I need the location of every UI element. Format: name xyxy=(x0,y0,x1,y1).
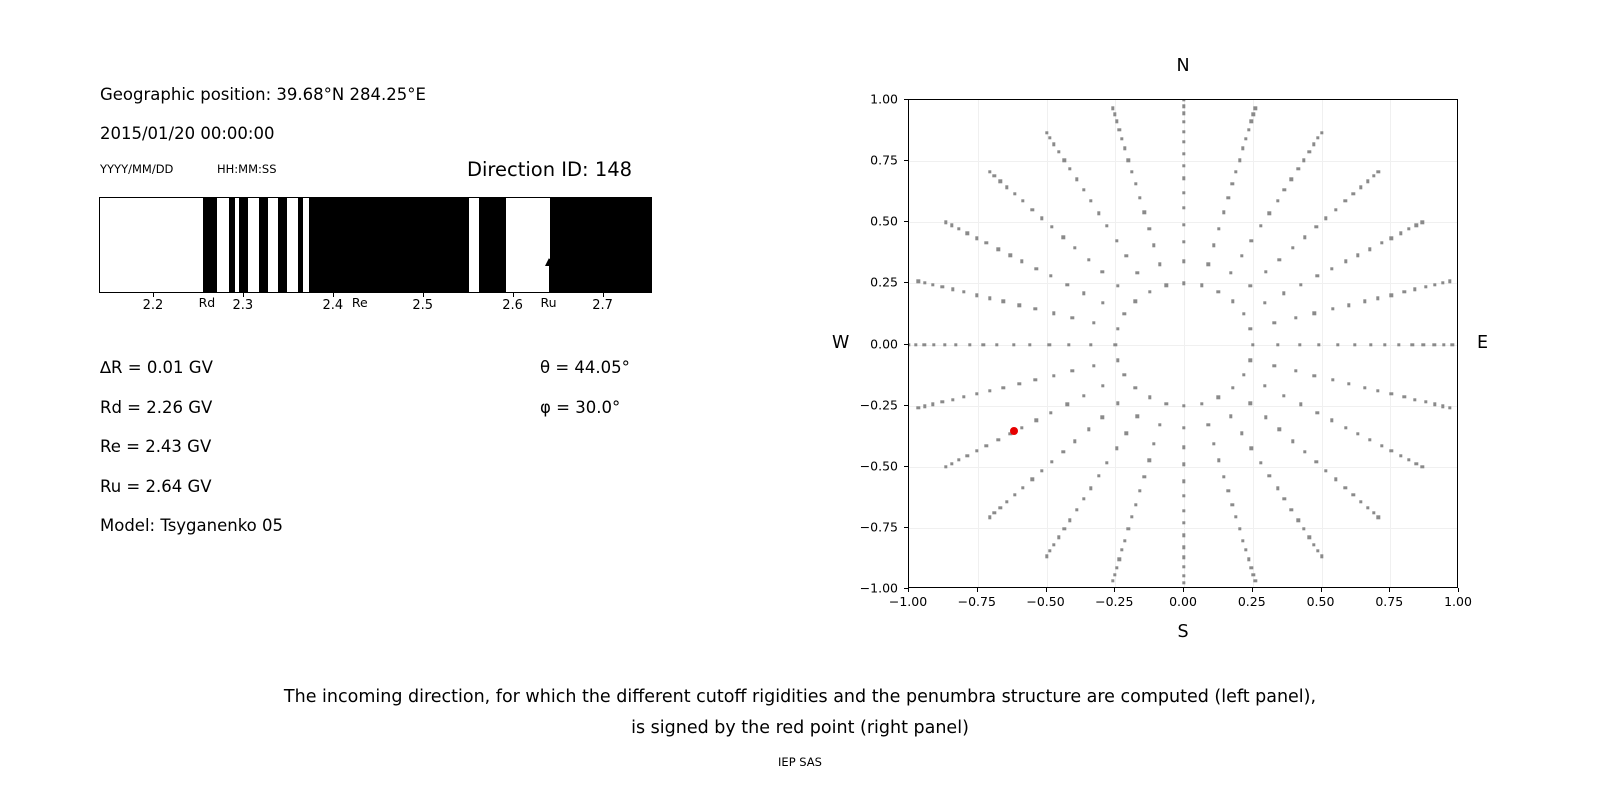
direction-point xyxy=(914,343,917,346)
penumbra-forbidden-band xyxy=(203,198,216,292)
x-tick-label: −0.75 xyxy=(958,594,996,609)
direction-point xyxy=(1252,113,1255,116)
direction-point xyxy=(1240,432,1243,435)
direction-point xyxy=(1049,274,1052,277)
direction-point xyxy=(1071,316,1074,319)
marker-arrow-head-icon xyxy=(204,258,212,266)
direction-point xyxy=(1021,486,1024,489)
parameter-text: Re = 2.43 GV xyxy=(100,437,211,456)
direction-point xyxy=(1123,147,1126,150)
direction-point xyxy=(1347,304,1350,307)
direction-point xyxy=(1376,389,1379,392)
direction-point xyxy=(1212,442,1215,445)
direction-point xyxy=(1200,284,1203,287)
marker-label: Ru xyxy=(541,295,557,310)
penumbra-chart xyxy=(99,197,652,293)
direction-point xyxy=(1389,293,1392,296)
parameter-text: Ru = 2.64 GV xyxy=(100,477,212,496)
direction-point xyxy=(1035,267,1038,270)
penumbra-forbidden-band xyxy=(259,198,268,292)
direction-point xyxy=(1356,432,1359,435)
direction-point xyxy=(1148,290,1151,293)
direction-point xyxy=(1290,178,1293,181)
direction-point xyxy=(1251,343,1254,346)
direction-point xyxy=(1312,312,1315,315)
direction-point xyxy=(1113,113,1116,116)
direction-point xyxy=(1414,224,1417,227)
direction-point xyxy=(1048,343,1051,346)
direction-point xyxy=(1302,527,1305,530)
direction-point xyxy=(931,403,934,406)
x-tick-label: 2.5 xyxy=(412,298,433,313)
x-tick-label: −1.00 xyxy=(889,594,927,609)
y-tick-label: 1.00 xyxy=(842,92,898,107)
direction-scatter-plot xyxy=(908,99,1458,588)
direction-point xyxy=(1283,497,1286,500)
direction-point xyxy=(1040,217,1043,220)
direction-point xyxy=(1050,225,1053,228)
direction-point xyxy=(1120,137,1123,140)
direction-point xyxy=(1247,558,1250,561)
direction-point xyxy=(1182,164,1185,167)
direction-point xyxy=(1231,386,1234,389)
direction-point xyxy=(1073,246,1076,249)
direction-point xyxy=(1259,461,1262,464)
direction-point xyxy=(1312,143,1315,146)
horizontal-gridline xyxy=(909,345,1457,346)
direction-point xyxy=(1238,527,1241,530)
x-tick-label: 0.25 xyxy=(1238,594,1266,609)
direction-point xyxy=(1315,225,1318,228)
direction-point xyxy=(1244,548,1247,551)
direction-point xyxy=(1217,290,1220,293)
direction-point xyxy=(1115,120,1118,123)
direction-point xyxy=(1222,475,1225,478)
direction-point xyxy=(1377,516,1380,519)
direction-point xyxy=(1316,136,1319,139)
direction-point xyxy=(988,297,991,300)
x-tick-mark xyxy=(1114,588,1115,592)
x-tick-label: 2.6 xyxy=(502,298,523,313)
direction-point xyxy=(1165,402,1168,405)
direction-point xyxy=(1082,394,1085,397)
direction-point xyxy=(1278,428,1281,431)
direction-point xyxy=(1182,206,1185,209)
direction-point xyxy=(1366,506,1369,509)
direction-point xyxy=(1441,281,1444,284)
direction-point xyxy=(1134,300,1137,303)
direction-point xyxy=(1075,508,1078,511)
penumbra-forbidden-band xyxy=(309,198,469,292)
marker-label: Re xyxy=(352,295,368,310)
direction-point xyxy=(975,293,978,296)
direction-point xyxy=(1407,227,1410,230)
horizontal-gridline xyxy=(909,467,1457,468)
direction-point xyxy=(1268,474,1271,477)
direction-point xyxy=(1359,500,1362,503)
direction-point xyxy=(1273,321,1276,324)
x-tick-mark xyxy=(153,293,154,297)
direction-point xyxy=(1147,227,1150,230)
direction-point xyxy=(1020,426,1023,429)
direction-point xyxy=(1372,174,1375,177)
direction-point xyxy=(1229,415,1232,418)
penumbra-forbidden-band xyxy=(479,198,506,292)
penumbra-forbidden-band xyxy=(239,198,248,292)
direction-point xyxy=(1063,527,1066,530)
direction-point xyxy=(1359,185,1362,188)
direction-point xyxy=(1182,546,1185,549)
direction-point xyxy=(1118,128,1121,131)
direction-point xyxy=(1134,503,1137,506)
direction-point xyxy=(1097,212,1100,215)
marker-arrow-head-icon xyxy=(545,258,553,266)
direction-point xyxy=(1282,291,1285,294)
direction-point xyxy=(1212,244,1215,247)
y-tick-mark xyxy=(904,344,908,345)
direction-point xyxy=(1182,191,1185,194)
penumbra-panel: Geographic position: 39.68°N 284.25°E 20… xyxy=(0,0,800,660)
direction-point xyxy=(1182,140,1185,143)
direction-point xyxy=(1182,282,1185,285)
direction-point xyxy=(1363,386,1366,389)
caption-line-2: is signed by the red point (right panel) xyxy=(0,713,1600,744)
direction-point xyxy=(1182,494,1185,497)
direction-point xyxy=(1248,284,1251,287)
x-tick-label: 0.00 xyxy=(1169,594,1197,609)
direction-point xyxy=(1116,327,1119,330)
direction-point xyxy=(1049,411,1052,414)
direction-point xyxy=(1448,406,1451,409)
x-tick-label: 2.4 xyxy=(322,298,343,313)
direction-point xyxy=(1063,159,1066,162)
direction-point xyxy=(985,444,988,447)
direction-point xyxy=(1138,489,1141,492)
direction-point xyxy=(1331,307,1334,310)
direction-point xyxy=(1433,283,1436,286)
direction-point xyxy=(1130,170,1133,173)
direction-point xyxy=(975,449,978,452)
compass-north-label: N xyxy=(1176,56,1189,76)
direction-point xyxy=(917,280,920,283)
direction-point xyxy=(1316,411,1319,414)
direction-point xyxy=(1368,438,1371,441)
direction-point xyxy=(1182,112,1185,115)
direction-point xyxy=(1389,236,1392,239)
direction-point xyxy=(1127,159,1130,162)
direction-point xyxy=(1089,343,1092,346)
direction-point xyxy=(1253,579,1256,582)
direction-point xyxy=(1134,386,1137,389)
direction-point xyxy=(1067,343,1070,346)
x-tick-label: −0.25 xyxy=(1095,594,1133,609)
direction-point xyxy=(1018,382,1021,385)
direction-point xyxy=(941,285,944,288)
direction-point xyxy=(1368,247,1371,250)
direction-point xyxy=(988,170,991,173)
direction-point xyxy=(1073,440,1076,443)
direction-point xyxy=(1123,539,1126,542)
direction-point xyxy=(1182,223,1185,226)
direction-point xyxy=(1317,343,1320,346)
time-format-hint: HH:MM:SS xyxy=(217,162,277,176)
direction-point xyxy=(1136,415,1139,418)
direction-point xyxy=(1250,566,1253,569)
direction-point xyxy=(1092,321,1095,324)
direction-point xyxy=(1457,343,1458,346)
direction-point xyxy=(1413,288,1416,291)
direction-point xyxy=(1278,258,1281,261)
direction-point xyxy=(1206,423,1209,426)
direction-point xyxy=(1148,396,1151,399)
direction-point xyxy=(923,281,926,284)
direction-point xyxy=(1182,104,1185,107)
direction-point xyxy=(1217,227,1220,230)
direction-point xyxy=(1031,478,1034,481)
datetime-label: 2015/01/20 00:00:00 xyxy=(100,124,274,143)
direction-point xyxy=(1020,260,1023,263)
direction-point xyxy=(1034,378,1037,381)
direction-point xyxy=(1273,364,1276,367)
direction-point xyxy=(975,392,978,395)
direction-point xyxy=(1182,480,1185,483)
direction-point xyxy=(1351,493,1354,496)
direction-point xyxy=(1411,343,1414,346)
vertical-gridline xyxy=(978,100,979,587)
direction-point xyxy=(1182,556,1185,559)
direction-point xyxy=(1303,450,1306,453)
direction-point xyxy=(966,232,969,235)
direction-point xyxy=(1052,543,1055,546)
direction-point xyxy=(962,395,965,398)
direction-point xyxy=(1089,487,1092,490)
direction-point xyxy=(1383,343,1386,346)
direction-point xyxy=(1312,374,1315,377)
direction-point xyxy=(1062,450,1065,453)
y-tick-label: 0.50 xyxy=(842,214,898,229)
direction-point xyxy=(1450,343,1453,346)
compass-south-label: S xyxy=(1177,622,1188,642)
penumbra-forbidden-band xyxy=(278,198,287,292)
direction-point xyxy=(1217,459,1220,462)
direction-point xyxy=(1334,478,1337,481)
direction-point xyxy=(1242,373,1245,376)
direction-point xyxy=(1366,179,1369,182)
x-tick-label: 0.75 xyxy=(1375,594,1403,609)
direction-point xyxy=(1002,300,1005,303)
penumbra-bar xyxy=(99,197,652,293)
vertical-gridline xyxy=(1184,100,1185,587)
direction-point xyxy=(1028,343,1031,346)
direction-point xyxy=(1206,262,1209,265)
direction-point xyxy=(1344,199,1347,202)
y-tick-label: 0.00 xyxy=(842,336,898,351)
direction-point xyxy=(1336,343,1339,346)
y-tick-mark xyxy=(904,527,908,528)
direction-point xyxy=(1290,508,1293,511)
parameter-text: φ = 30.0° xyxy=(540,398,620,417)
direction-point xyxy=(999,506,1002,509)
direction-point xyxy=(1263,384,1266,387)
selected-direction-point[interactable] xyxy=(1010,427,1018,435)
direction-id-label: Direction ID: 148 xyxy=(467,158,632,181)
direction-point xyxy=(950,224,953,227)
direction-point xyxy=(1123,312,1126,315)
direction-point xyxy=(1200,402,1203,405)
direction-point xyxy=(1152,442,1155,445)
direction-point xyxy=(1316,549,1319,552)
direction-point xyxy=(1105,224,1108,227)
direction-point xyxy=(1241,539,1244,542)
direction-point xyxy=(1448,280,1451,283)
direction-point xyxy=(1250,120,1253,123)
direction-point xyxy=(1248,402,1251,405)
direction-point xyxy=(1018,304,1021,307)
direction-point xyxy=(1182,426,1185,429)
direction-point xyxy=(1413,398,1416,401)
direction-point xyxy=(1031,208,1034,211)
direction-point xyxy=(997,247,1000,250)
direction-point xyxy=(1012,343,1015,346)
direction-point xyxy=(1005,185,1008,188)
caption-line-1: The incoming direction, for which the di… xyxy=(0,682,1600,713)
direction-point xyxy=(1264,415,1267,418)
direction-point xyxy=(1422,343,1425,346)
direction-point xyxy=(1312,543,1315,546)
geographic-position-label: Geographic position: 39.68°N 284.25°E xyxy=(100,85,426,104)
direction-point xyxy=(1226,489,1229,492)
horizontal-gridline xyxy=(909,528,1457,529)
direction-point xyxy=(1062,236,1065,239)
direction-point xyxy=(1283,188,1286,191)
direction-point xyxy=(1380,444,1383,447)
direction-point xyxy=(1238,159,1241,162)
direction-point xyxy=(1136,271,1139,274)
direction-point xyxy=(1389,392,1392,395)
x-tick-mark xyxy=(977,588,978,592)
direction-point xyxy=(1294,369,1297,372)
direction-point xyxy=(923,404,926,407)
direction-point xyxy=(1344,426,1347,429)
direction-point xyxy=(1182,152,1185,155)
direction-point xyxy=(1182,463,1185,466)
direction-point xyxy=(1259,224,1262,227)
direction-point xyxy=(985,241,988,244)
direction-point xyxy=(1291,246,1294,249)
direction-point xyxy=(1158,262,1161,265)
direction-point xyxy=(1424,400,1427,403)
direction-point xyxy=(1101,384,1104,387)
direction-point xyxy=(1082,291,1085,294)
direction-point xyxy=(1147,459,1150,462)
direction-point xyxy=(1182,177,1185,180)
direction-point xyxy=(922,343,925,346)
direction-point xyxy=(1369,343,1372,346)
direction-point xyxy=(1250,239,1253,242)
y-tick-mark xyxy=(904,160,908,161)
direction-point xyxy=(1182,521,1185,524)
direction-point xyxy=(944,221,947,224)
direction-point xyxy=(1071,369,1074,372)
direction-point xyxy=(1050,460,1053,463)
direction-point xyxy=(1403,395,1406,398)
direction-point xyxy=(957,458,960,461)
direction-point xyxy=(1092,364,1095,367)
x-tick-mark xyxy=(1389,588,1390,592)
direction-point xyxy=(1249,327,1252,330)
direction-point xyxy=(1234,515,1237,518)
direction-point xyxy=(917,406,920,409)
direction-point xyxy=(1052,143,1055,146)
x-tick-mark xyxy=(1458,588,1459,592)
penumbra-axis: 2.22.32.42.52.62.7RdReRu xyxy=(99,293,652,353)
direction-point xyxy=(1082,188,1085,191)
parameter-text: θ = 44.05° xyxy=(540,358,630,377)
direction-point xyxy=(1182,581,1185,584)
y-tick-mark xyxy=(904,405,908,406)
direction-point xyxy=(931,283,934,286)
direction-point xyxy=(1111,579,1114,582)
direction-point xyxy=(1040,469,1043,472)
y-tick-mark xyxy=(904,221,908,222)
direction-point xyxy=(1324,217,1327,220)
parameter-text: Model: Tsyganenko 05 xyxy=(100,516,283,535)
direction-point xyxy=(944,465,947,468)
direction-point xyxy=(1302,159,1305,162)
penumbra-forbidden-band xyxy=(229,198,235,292)
direction-point xyxy=(1407,458,1410,461)
direction-point xyxy=(1276,199,1279,202)
direction-point xyxy=(1182,404,1185,407)
direction-point xyxy=(951,398,954,401)
direction-point xyxy=(1114,343,1117,346)
direction-point xyxy=(1182,574,1185,577)
direction-point xyxy=(1424,285,1427,288)
direction-point xyxy=(1115,566,1118,569)
direction-point xyxy=(932,343,935,346)
direction-point xyxy=(941,400,944,403)
direction-point xyxy=(1165,284,1168,287)
direction-point xyxy=(1052,374,1055,377)
direction-point xyxy=(1249,359,1252,362)
parameter-text: ∆R = 0.01 GV xyxy=(100,358,213,377)
direction-point xyxy=(1231,182,1234,185)
direction-point xyxy=(966,454,969,457)
direction-point xyxy=(1299,283,1302,286)
direction-point xyxy=(1134,182,1137,185)
direction-point xyxy=(1380,241,1383,244)
direction-point xyxy=(988,389,991,392)
date-format-hint: YYYY/MM/DD xyxy=(100,162,173,176)
direction-point xyxy=(1397,343,1400,346)
direction-point xyxy=(1294,316,1297,319)
direction-point xyxy=(1303,236,1306,239)
x-tick-label: 1.00 xyxy=(1444,594,1472,609)
direction-point xyxy=(1433,343,1436,346)
direction-point xyxy=(1264,270,1267,273)
direction-point xyxy=(1182,509,1185,512)
direction-point xyxy=(1101,270,1104,273)
direction-point xyxy=(1082,497,1085,500)
direction-map-panel: N S W E −1.00−0.75−0.50−0.250.000.250.50… xyxy=(800,0,1600,660)
x-tick-mark xyxy=(513,293,514,297)
direction-point xyxy=(1068,519,1071,522)
y-tick-label: 0.75 xyxy=(842,153,898,168)
direction-point xyxy=(1351,192,1354,195)
direction-point xyxy=(1068,167,1071,170)
direction-point xyxy=(1291,440,1294,443)
direction-point xyxy=(1268,212,1271,215)
